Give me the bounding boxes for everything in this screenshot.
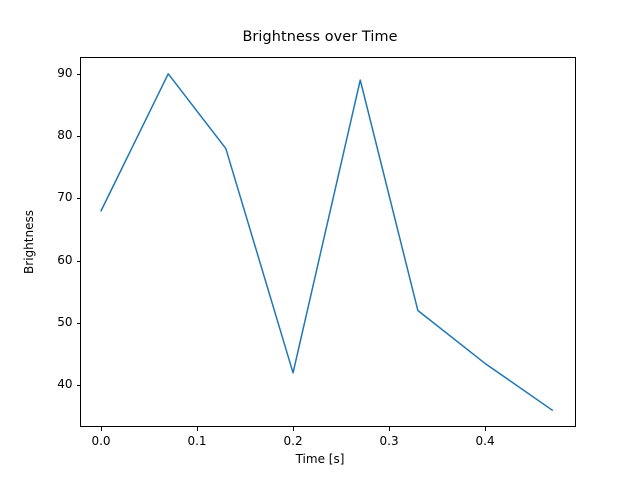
y-tick-mark <box>77 136 81 137</box>
y-tick-mark <box>77 74 81 75</box>
chart-title: Brightness over Time <box>0 29 640 45</box>
y-tick-mark <box>77 385 81 386</box>
y-tick-label: 80 <box>33 128 73 142</box>
brightness-line-series <box>101 74 552 410</box>
y-tick-label: 40 <box>33 377 73 391</box>
y-tick-label: 50 <box>33 315 73 329</box>
x-tick-label: 0.2 <box>263 434 323 448</box>
x-axis-label: Time [s] <box>0 452 640 466</box>
y-tick-mark <box>77 323 81 324</box>
x-tick-label: 0.1 <box>167 434 227 448</box>
x-tick-mark <box>197 427 198 431</box>
y-tick-label: 70 <box>33 190 73 204</box>
x-tick-label: 0.3 <box>359 434 419 448</box>
x-tick-mark <box>101 427 102 431</box>
x-tick-mark <box>485 427 486 431</box>
y-tick-mark <box>77 198 81 199</box>
x-tick-label: 0.4 <box>455 434 515 448</box>
plot-area <box>80 57 576 427</box>
x-tick-mark <box>293 427 294 431</box>
y-axis-label: Brightness <box>22 210 36 274</box>
y-tick-mark <box>77 261 81 262</box>
figure-canvas: Brightness over Time 405060708090 0.00.1… <box>0 0 640 480</box>
y-tick-label: 90 <box>33 66 73 80</box>
x-tick-mark <box>389 427 390 431</box>
x-tick-label: 0.0 <box>71 434 131 448</box>
y-tick-label: 60 <box>33 253 73 267</box>
